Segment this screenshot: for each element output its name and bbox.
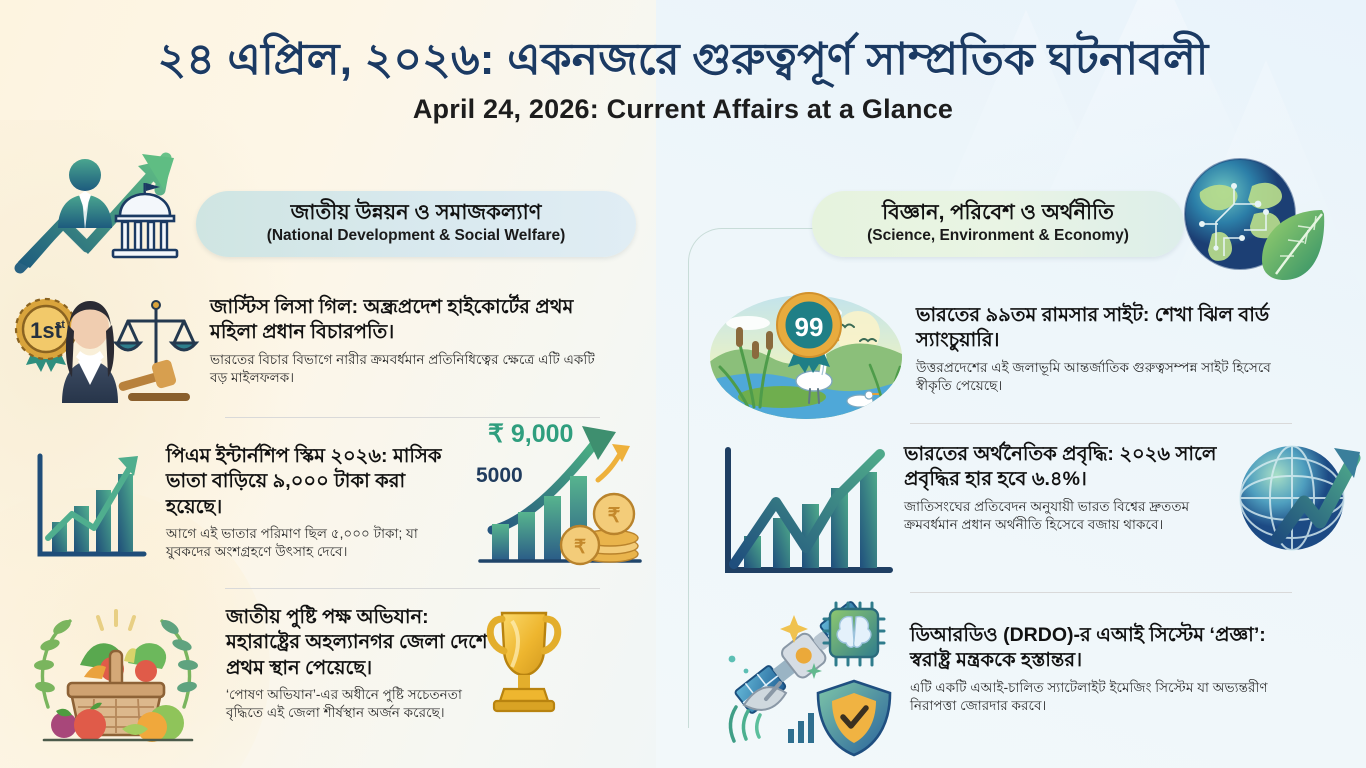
trophy-icon bbox=[478, 605, 570, 715]
page-title-bengali: ২৪ এপ্রিল, ২০২৬: একনজরে গুরুত্বপূর্ণ সাম… bbox=[0, 34, 1366, 86]
section-header-science-economy[interactable]: বিজ্ঞান, পরিবেশ ও অর্থনীতি (Science, Env… bbox=[812, 191, 1184, 257]
item-headline: পিএম ইন্টার্নশিপ স্কিম ২০২৬: মাসিক ভাতা … bbox=[166, 444, 460, 520]
list-item-text: জাতীয় পুষ্টি পক্ষ অভিযান: মহারাষ্ট্রের … bbox=[214, 597, 660, 722]
item-headline: ভারতের অর্থনৈতিক প্রবৃদ্ধি: ২০২৬ সালে প্… bbox=[904, 442, 1236, 493]
stipend-old-amount: 5000 bbox=[476, 464, 523, 487]
item-headline: ভারতের ৯৯তম রামসার সাইট: শেখা ঝিল বার্ড … bbox=[916, 303, 1292, 354]
science-economy-header-art bbox=[1172, 152, 1332, 282]
item-divider bbox=[910, 592, 1292, 593]
column-science-economy: 99 ভারতের ৯৯তম রামসার সাইট: শেখা ঝিল বার… bbox=[700, 285, 1366, 759]
item-detail: এটি একটি এআই-চালিত স্যাটেলাইট ইমেজিং সিস… bbox=[910, 679, 1288, 715]
item-detail: ‘পোষণ অভিযান’-এর অধীনে পুষ্টি সচেতনতা বৃ… bbox=[226, 686, 500, 722]
svg-text:st: st bbox=[55, 319, 65, 331]
ai-chip-icon bbox=[824, 603, 884, 665]
section-heading-bengali: বিজ্ঞান, পরিবেশ ও অর্থনীতি bbox=[882, 201, 1114, 224]
badge-value: 99 bbox=[795, 312, 824, 342]
list-item[interactable]: ডিআরডিও (DRDO)-র এআই সিস্টেম ‘প্রজ্ঞা’: … bbox=[700, 599, 1366, 759]
list-item[interactable]: পিএম ইন্টার্নশিপ স্কিম ২০২৬: মাসিক ভাতা … bbox=[0, 428, 660, 588]
list-item[interactable]: 99 ভারতের ৯৯তম রামসার সাইট: শেখা ঝিল বার… bbox=[700, 285, 1366, 417]
svg-text:₹: ₹ bbox=[608, 505, 621, 527]
person-icon bbox=[58, 159, 112, 230]
stipend-new-amount: ₹ 9,000 bbox=[488, 420, 573, 448]
item-detail: আগে এই ভাতার পরিমাণ ছিল ৫,০০০ টাকা; যা য… bbox=[166, 525, 460, 561]
item-detail: উত্তরপ্রদেশের এই জলাভূমি আন্তর্জাতিক গুর… bbox=[916, 359, 1292, 395]
list-item[interactable]: 1st st bbox=[0, 285, 660, 415]
section-heading-english: (Science, Environment & Economy) bbox=[867, 227, 1129, 245]
list-item[interactable]: জাতীয় পুষ্টি পক্ষ অভিযান: মহারাষ্ট্রের … bbox=[0, 597, 660, 752]
item-divider bbox=[910, 423, 1292, 424]
page-title-english: April 24, 2026: Current Affairs at a Gla… bbox=[0, 94, 1366, 125]
list-item-text: ভারতের ৯৯তম রামসার সাইট: শেখা ঝিল বার্ড … bbox=[904, 285, 1366, 395]
national-development-header-art bbox=[14, 150, 204, 275]
column-national-development: 1st st bbox=[0, 285, 660, 752]
growth-bars-illustration bbox=[32, 450, 150, 568]
list-item-text: ডিআরডিও (DRDO)-র এআই সিস্টেম ‘প্রজ্ঞা’: … bbox=[900, 599, 1366, 715]
wetland-illustration: 99 bbox=[708, 289, 904, 421]
page-header: ২৪ এপ্রিল, ২০২৬: একনজরে গুরুত্বপূর্ণ সাম… bbox=[0, 0, 1366, 125]
nutrition-basket-illustration bbox=[18, 603, 214, 753]
item-divider bbox=[225, 588, 600, 589]
government-building-icon bbox=[113, 183, 177, 257]
item-headline: জাতীয় পুষ্টি পক্ষ অভিযান: মহারাষ্ট্রের … bbox=[226, 605, 500, 681]
item-headline: ডিআরডিও (DRDO)-র এআই সিস্টেম ‘প্রজ্ঞা’: … bbox=[910, 623, 1288, 674]
section-heading-bengali: জাতীয় উন্নয়ন ও সমাজকল্যাণ bbox=[291, 201, 542, 224]
drdo-ai-illustration bbox=[722, 601, 900, 761]
item-detail: জাতিসংঘের প্রতিবেদন অনুযায়ী ভারত বিশ্বে… bbox=[904, 498, 1236, 534]
stipend-chart-illustration: ₹ 9,000 5000 bbox=[470, 414, 650, 574]
item-headline: জাস্টিস লিসা গিল: অন্ধ্রপ্রদেশ হাইকোর্টে… bbox=[210, 295, 608, 346]
section-heading-english: (National Development & Social Welfare) bbox=[267, 227, 566, 245]
list-item[interactable]: ভারতের অর্থনৈতিক প্রবৃদ্ধি: ২০২৬ সালে প্… bbox=[700, 432, 1366, 592]
security-shield-icon bbox=[818, 681, 890, 755]
section-header-national-development[interactable]: জাতীয় উন্নয়ন ও সমাজকল্যাণ (National De… bbox=[196, 191, 636, 257]
list-item-text: জাস্টিস লিসা গিল: অন্ধ্রপ্রদেশ হাইকোর্টে… bbox=[210, 285, 660, 387]
gavel-icon bbox=[118, 359, 190, 401]
item-detail: ভারতের বিচার বিভাগে নারীর ক্রমবর্ধমান প্… bbox=[210, 351, 608, 387]
judge-illustration: 1st st bbox=[0, 285, 210, 407]
globe-growth-arrow-icon bbox=[1234, 438, 1360, 564]
mini-bar-chart-icon bbox=[788, 713, 814, 743]
svg-text:₹: ₹ bbox=[574, 537, 586, 558]
economic-growth-chart-illustration bbox=[714, 444, 904, 594]
